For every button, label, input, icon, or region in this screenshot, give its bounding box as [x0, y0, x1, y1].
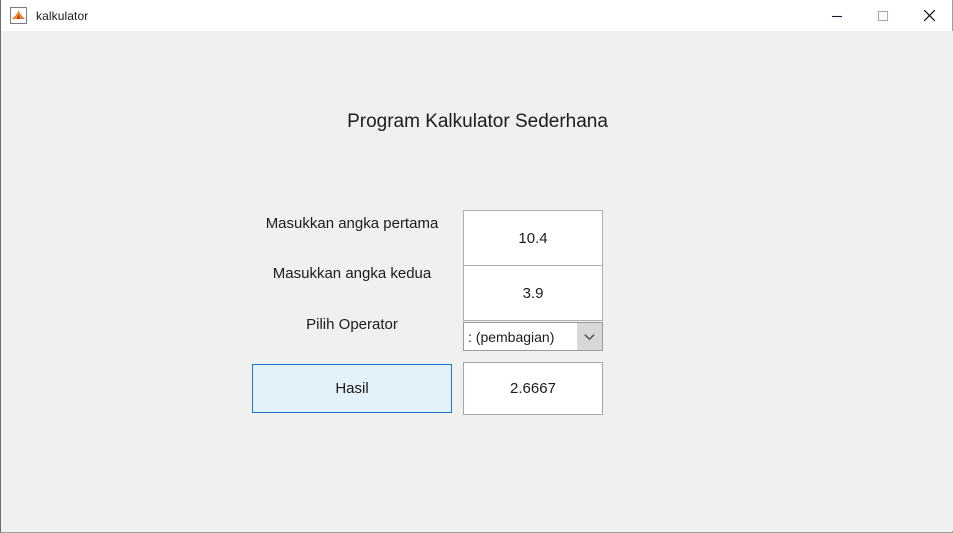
first-number-input[interactable]: 10.4: [463, 210, 603, 266]
page-title: Program Kalkulator Sederhana: [2, 111, 953, 133]
close-button[interactable]: [906, 0, 952, 31]
operator-select-value: : (pembagian): [464, 329, 577, 345]
window-title: kalkulator: [36, 9, 88, 23]
maximize-button[interactable]: [860, 0, 906, 31]
minimize-button[interactable]: [814, 0, 860, 31]
content-area: Program Kalkulator Sederhana Masukkan an…: [2, 31, 953, 531]
hasil-button[interactable]: Hasil: [252, 364, 452, 413]
second-number-input[interactable]: 3.9: [463, 265, 603, 321]
application-window: kalkulator Program Kalkulator Sederhana …: [0, 0, 953, 533]
label-second-number: Masukkan angka kedua: [252, 265, 452, 282]
result-output[interactable]: 2.6667: [463, 362, 603, 415]
title-bar: kalkulator: [1, 0, 952, 31]
chevron-down-icon[interactable]: [577, 323, 602, 350]
label-first-number: Masukkan angka pertama: [252, 215, 452, 232]
matlab-icon: [10, 7, 27, 24]
label-operator: Pilih Operator: [252, 316, 452, 333]
operator-select[interactable]: : (pembagian): [463, 322, 603, 351]
